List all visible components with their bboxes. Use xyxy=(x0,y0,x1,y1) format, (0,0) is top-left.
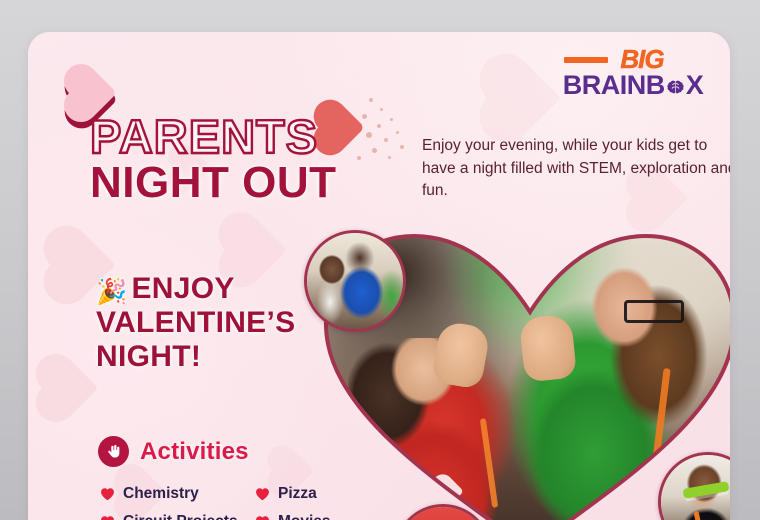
logo-brainbox-text: BRAINB X xyxy=(558,72,708,99)
activities-title: Activities xyxy=(140,438,249,466)
list-item: Chemistry xyxy=(100,485,255,503)
inset-photo-parent-and-toddler xyxy=(304,230,406,332)
inset-photo-child-activity xyxy=(394,504,492,520)
valentine-line-1-text: ENJOY xyxy=(131,272,234,305)
heart-bullet-icon xyxy=(100,487,115,501)
safety-goggles-icon xyxy=(682,481,729,499)
activities-header: Activities xyxy=(98,436,249,467)
heart-bullet-icon xyxy=(255,487,270,501)
flyer-card: BIG BRAINB X xyxy=(28,32,730,520)
list-item: Circuit Projects xyxy=(100,513,255,520)
list-item-label: Circuit Projects xyxy=(123,513,238,520)
intro-paragraph: Enjoy your evening, while your kids get … xyxy=(422,135,730,203)
logo-big-row: BIG xyxy=(558,46,708,72)
inset-photo-image xyxy=(661,455,730,520)
logo-brainbox-pre: BRAINB xyxy=(563,72,665,99)
headline-line-1: PARENTS xyxy=(90,114,420,159)
inset-photo-image xyxy=(397,507,489,520)
logo-big-text: BIG xyxy=(602,46,663,72)
page-title: PARENTS NIGHT OUT xyxy=(90,114,420,206)
logo-brainbox-post: X xyxy=(686,72,704,99)
party-popper-icon: 🎉 xyxy=(96,278,127,306)
inset-photo-image xyxy=(307,233,403,329)
lanyard-icon xyxy=(694,511,706,520)
brand-logo[interactable]: BIG BRAINB X xyxy=(558,46,708,99)
heart-bullet-icon xyxy=(255,515,270,520)
photo-collage xyxy=(304,218,730,520)
headline-line-2: NIGHT OUT xyxy=(90,161,420,206)
pointing-hand-icon xyxy=(98,436,129,467)
screenshot-canvas: BIG BRAINB X xyxy=(0,0,760,520)
brain-icon xyxy=(665,77,686,98)
inset-photo-child-goggles xyxy=(658,452,730,520)
heart-bullet-icon xyxy=(100,515,115,520)
list-item-label: Chemistry xyxy=(123,485,199,503)
